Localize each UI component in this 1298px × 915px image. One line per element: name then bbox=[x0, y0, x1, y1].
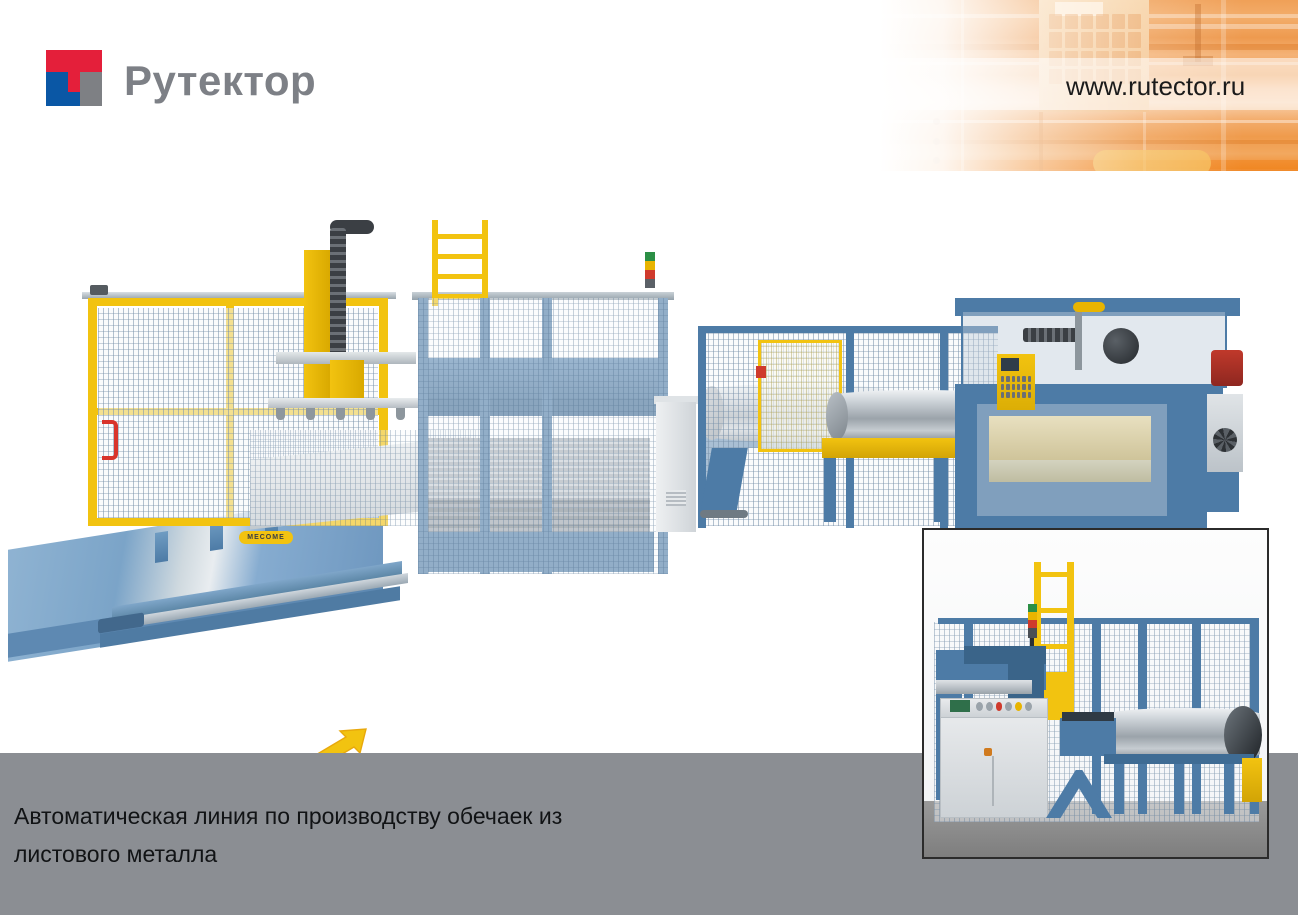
caption-text: Автоматическая линия по производству обе… bbox=[14, 797, 714, 873]
internal-tooling bbox=[989, 460, 1151, 482]
fence-mesh-panel bbox=[418, 298, 668, 574]
conveyor-leg bbox=[934, 458, 946, 522]
caption-line-2: листового металла bbox=[14, 835, 714, 873]
fence-rail-cap bbox=[90, 285, 108, 295]
signal-tower-light bbox=[645, 252, 655, 298]
suction-cup bbox=[396, 408, 405, 420]
panel-screen bbox=[1001, 358, 1019, 371]
inset-conveyor-leg bbox=[1114, 764, 1124, 814]
inset-cabinet-door-split bbox=[992, 756, 994, 806]
weld-torch-cable bbox=[1073, 302, 1105, 312]
caption-line-1: Автоматическая линия по производству обе… bbox=[14, 797, 714, 835]
logo-red-bar bbox=[46, 50, 102, 72]
wire-spool bbox=[1103, 328, 1139, 364]
suction-cup bbox=[366, 408, 375, 420]
fence-top-frame bbox=[698, 326, 998, 333]
inset-feed-unit bbox=[1060, 718, 1116, 756]
cooling-fan-icon bbox=[1213, 428, 1237, 452]
inset-photo bbox=[922, 528, 1269, 859]
inset-signal-tower bbox=[1028, 604, 1037, 638]
ladder-rung bbox=[432, 274, 488, 279]
right-welding-machine bbox=[955, 298, 1240, 538]
inset-cabinet-display bbox=[950, 700, 970, 712]
inset-cabinet-buttons[interactable] bbox=[976, 702, 1032, 711]
sheet-stop bbox=[155, 531, 168, 563]
logo-gray-square bbox=[80, 72, 102, 106]
weld-head-post bbox=[1075, 310, 1082, 370]
inset-conveyor-leg bbox=[1224, 764, 1234, 814]
inset-conveyor-rail bbox=[1104, 754, 1254, 764]
gantry-column bbox=[304, 250, 330, 400]
machine-side-step bbox=[1199, 472, 1239, 512]
inset-yellow-stop bbox=[1242, 758, 1262, 802]
access-ladder bbox=[432, 220, 488, 306]
cabinet-vent-icon bbox=[666, 490, 686, 506]
inset-control-cabinet bbox=[940, 712, 1048, 818]
slide-root: www.rutector.ru Рутектор bbox=[0, 0, 1298, 915]
vacuum-suction-bar bbox=[268, 398, 418, 408]
inset-feed-head bbox=[1062, 712, 1114, 721]
brand-name: Рутектор bbox=[124, 57, 316, 105]
gate-latch-icon[interactable] bbox=[756, 366, 766, 378]
inset-machine-rail bbox=[936, 680, 1032, 694]
center-safety-frame bbox=[418, 298, 668, 574]
suction-cup bbox=[306, 408, 315, 420]
suction-cup bbox=[336, 408, 345, 420]
logo-red-stem bbox=[68, 72, 80, 92]
weld-cable-chain bbox=[1023, 328, 1079, 342]
rutector-logo-icon[interactable] bbox=[46, 50, 102, 106]
panel-keypad[interactable] bbox=[1001, 376, 1031, 398]
welding-power-source bbox=[1211, 350, 1243, 386]
fence-gate-handle-icon[interactable] bbox=[102, 420, 118, 460]
trolley-wheels bbox=[700, 510, 748, 518]
control-cabinet bbox=[656, 402, 696, 532]
inset-conveyor-leg bbox=[1174, 764, 1184, 814]
mecome-badge-left: MECOME bbox=[239, 531, 293, 544]
internal-tooling bbox=[989, 416, 1151, 460]
inset-cabinet-switch[interactable] bbox=[984, 748, 992, 756]
ladder-rung bbox=[432, 254, 488, 259]
metal-shell-end bbox=[826, 392, 848, 440]
conveyor-leg bbox=[824, 458, 836, 522]
site-url[interactable]: www.rutector.ru bbox=[1066, 71, 1245, 102]
suction-cup bbox=[276, 408, 285, 420]
ladder-rung bbox=[432, 234, 488, 239]
